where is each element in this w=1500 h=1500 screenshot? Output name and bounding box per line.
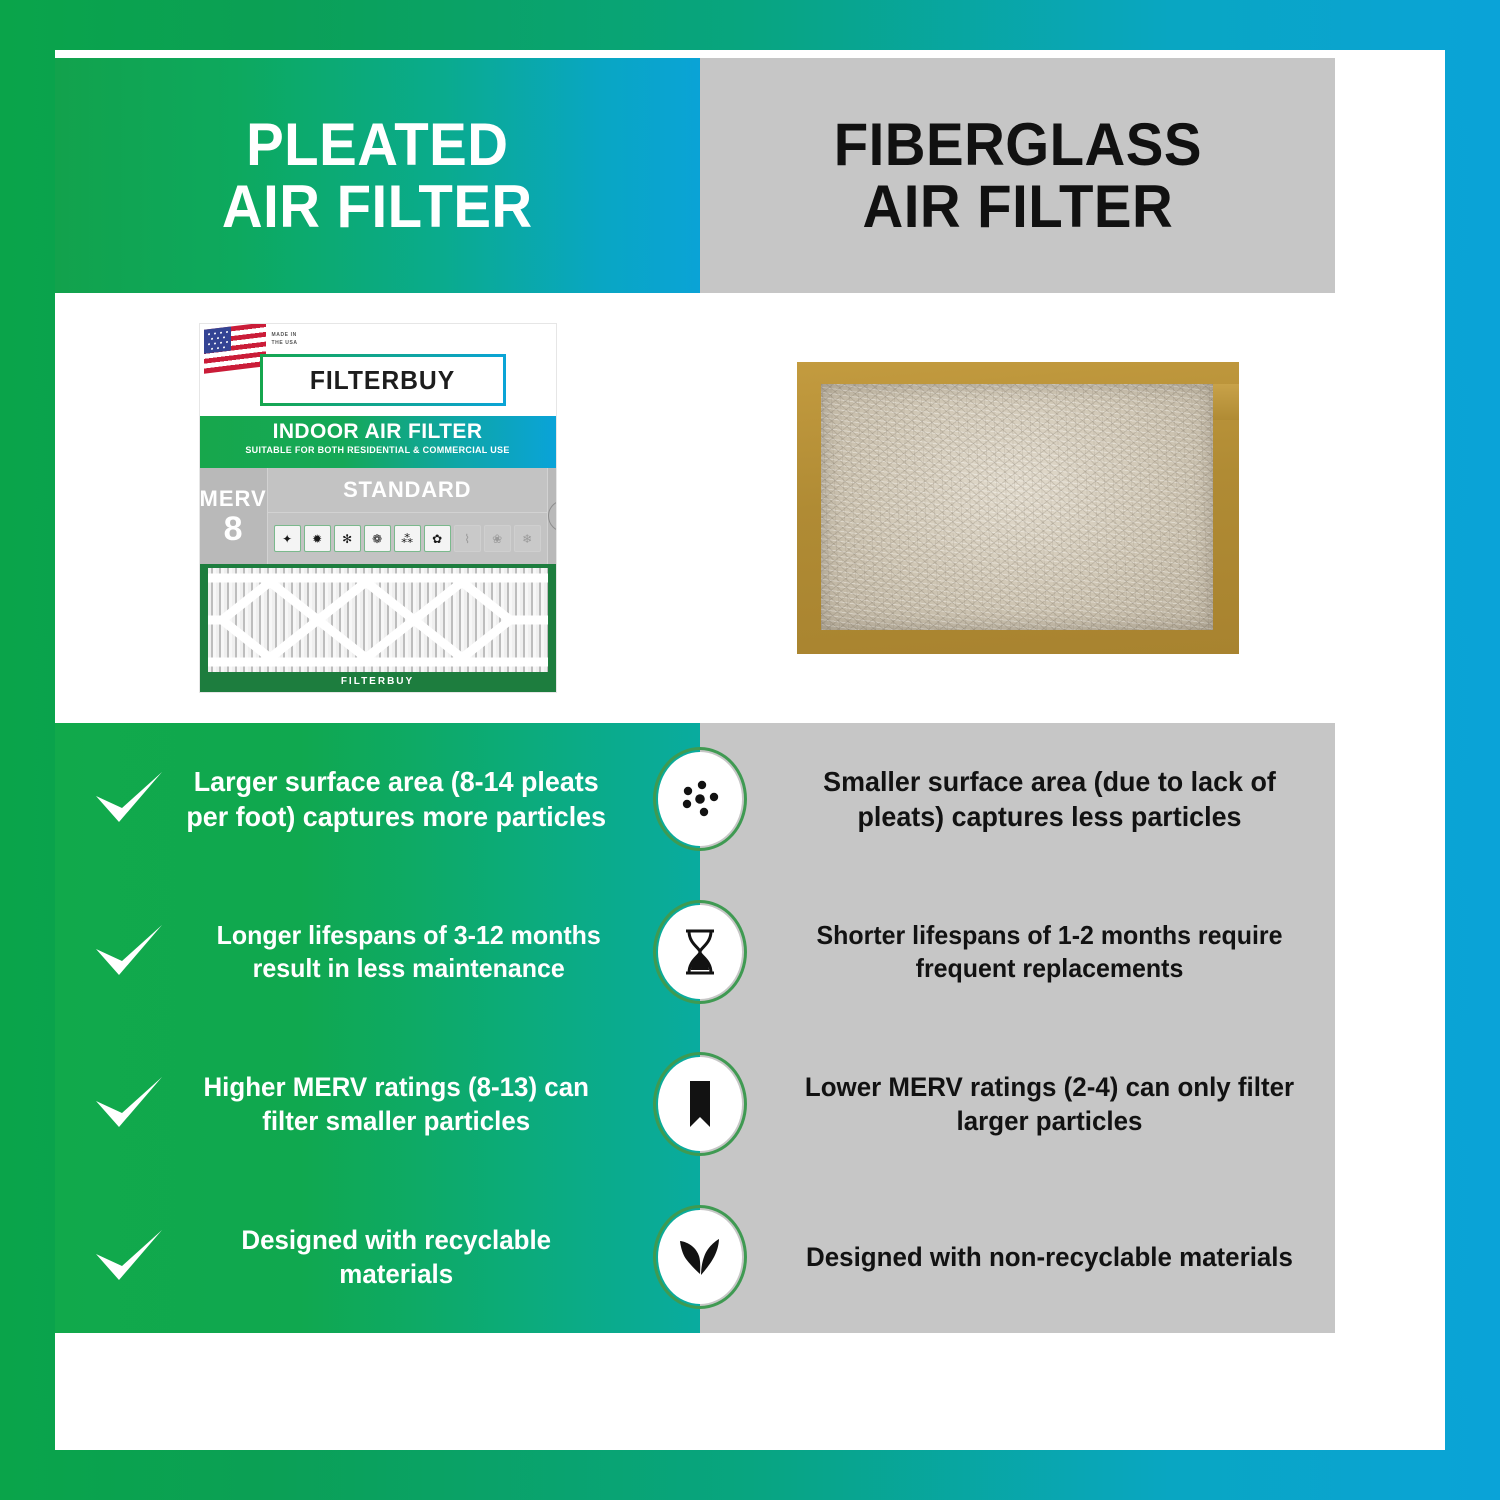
merv-label: MERV — [200, 486, 267, 512]
row-1-pleated-text: Larger surface area (8-14 pleats per foo… — [186, 764, 690, 835]
pollen-icon: ✻ — [334, 525, 361, 552]
bookmark-icon — [653, 1052, 747, 1156]
ul-certification-block: UL — [547, 468, 556, 564]
leaf-icon — [653, 1205, 747, 1309]
dust-mite-icon: ✹ — [304, 525, 331, 552]
row-4-pleated-text: Designed with recyclable materials — [186, 1223, 690, 1291]
grade-row: STANDARD — [267, 468, 547, 512]
row-2-pleated-text: Longer lifespans of 3-12 months result i… — [186, 919, 690, 985]
ul-listed-icon: UL — [548, 500, 556, 532]
row-1-pleated-cell: Larger surface area (8-14 pleats per foo… — [55, 764, 700, 835]
made-in-usa-text: MADE IN THE USA — [272, 332, 298, 347]
hourglass-icon — [653, 900, 747, 1004]
checkmark-icon — [83, 1226, 175, 1288]
diamond-support-grid — [208, 568, 548, 672]
box-band-title: INDOOR AIR FILTER — [200, 419, 556, 445]
filterbuy-wordmark: FILTERBUY — [310, 365, 455, 396]
checkmark-icon — [83, 768, 175, 830]
usa-flag-icon — [204, 324, 266, 374]
row-1-fiberglass-cell: Smaller surface area (due to lack of ple… — [700, 764, 1335, 835]
smoke-icon: ⌇ — [454, 525, 481, 552]
hourglass-glyph — [672, 924, 728, 980]
grade-label: STANDARD — [343, 477, 471, 503]
fiberglass-filter-image — [797, 362, 1239, 654]
row-2-fiberglass-text: Shorter lifespans of 1-2 months require … — [802, 919, 1296, 985]
gradient-border-frame: PLEATED AIR FILTER FIBERGLASS AIR FILTER — [0, 0, 1500, 1500]
comparison-rows: Larger surface area (8-14 pleats per foo… — [55, 723, 1335, 1333]
header-pleated: PLEATED AIR FILTER — [55, 58, 700, 293]
header-pleated-title: PLEATED AIR FILTER — [222, 114, 533, 238]
table-row: Designed with recyclable materials Desig… — [55, 1181, 1335, 1334]
row-1-fiberglass-text: Smaller surface area (due to lack of ple… — [802, 764, 1296, 835]
header-fiberglass: FIBERGLASS AIR FILTER — [700, 58, 1335, 293]
virus-icon: ❄ — [514, 525, 541, 552]
box-band-subtitle: SUITABLE FOR BOTH RESIDENTIAL & COMMERCI… — [200, 445, 556, 455]
filterbuy-box-image: MADE IN THE USA FILTERBUY INDOOR AIR FIL… — [200, 324, 556, 692]
table-row: Larger surface area (8-14 pleats per foo… — [55, 723, 1335, 876]
fiberglass-media-texture — [821, 384, 1213, 630]
capture-icons-strip: ✦ ✹ ✻ ❁ ⁂ ✿ ⌇ ❀ ❄ — [267, 512, 547, 564]
box-green-band: INDOOR AIR FILTER SUITABLE FOR BOTH RESI… — [200, 416, 556, 468]
row-3-pleated-cell: Higher MERV ratings (8-13) can filter sm… — [55, 1070, 700, 1138]
particles-icon — [653, 747, 747, 851]
leaf-glyph — [672, 1229, 728, 1285]
box-footer-brand: FILTERBUY — [200, 672, 556, 692]
row-4-fiberglass-text: Designed with non-recyclable materials — [802, 1240, 1296, 1274]
mold-icon: ❁ — [364, 525, 391, 552]
bookmark-glyph — [672, 1076, 728, 1132]
particles-glyph — [672, 771, 728, 827]
table-row: Higher MERV ratings (8-13) can filter sm… — [55, 1028, 1335, 1181]
row-4-pleated-cell: Designed with recyclable materials — [55, 1223, 700, 1291]
filterbuy-logo: FILTERBUY — [260, 354, 506, 406]
broom-dust-icon: ✦ — [274, 525, 301, 552]
checkmark-icon — [83, 1073, 175, 1135]
pet-dander-icon: ✿ — [424, 525, 451, 552]
fiberglass-product-cell — [700, 293, 1335, 723]
row-3-fiberglass-text: Lower MERV ratings (2-4) can only filter… — [802, 1070, 1296, 1138]
row-3-pleated-text: Higher MERV ratings (8-13) can filter sm… — [186, 1070, 690, 1138]
bacteria-icon: ❀ — [484, 525, 511, 552]
table-row: Longer lifespans of 3-12 months result i… — [55, 876, 1335, 1029]
box-top-section: MADE IN THE USA FILTERBUY — [200, 324, 556, 416]
merv-block: MERV 8 — [200, 468, 267, 564]
pleated-media-photo: FILTERBUY — [200, 564, 556, 692]
row-3-fiberglass-cell: Lower MERV ratings (2-4) can only filter… — [700, 1070, 1335, 1138]
product-images-band: MADE IN THE USA FILTERBUY INDOOR AIR FIL… — [55, 293, 1335, 723]
header-fiberglass-title: FIBERGLASS AIR FILTER — [833, 114, 1201, 238]
checkmark-icon — [83, 921, 175, 983]
row-2-fiberglass-cell: Shorter lifespans of 1-2 months require … — [700, 919, 1335, 985]
lint-icon: ⁂ — [394, 525, 421, 552]
column-headers: PLEATED AIR FILTER FIBERGLASS AIR FILTER — [55, 58, 1335, 293]
pleated-product-cell: MADE IN THE USA FILTERBUY INDOOR AIR FIL… — [55, 293, 700, 723]
row-2-pleated-cell: Longer lifespans of 3-12 months result i… — [55, 919, 700, 985]
merv-value: 8 — [224, 512, 243, 546]
grade-block: STANDARD ✦ ✹ ✻ ❁ ⁂ ✿ ⌇ ❀ ❄ — [267, 468, 547, 564]
cardboard-frame-tab — [1213, 384, 1239, 420]
box-spec-section: MERV 8 STANDARD ✦ ✹ ✻ ❁ ⁂ ✿ — [200, 468, 556, 564]
row-4-fiberglass-cell: Designed with non-recyclable materials — [700, 1240, 1335, 1274]
